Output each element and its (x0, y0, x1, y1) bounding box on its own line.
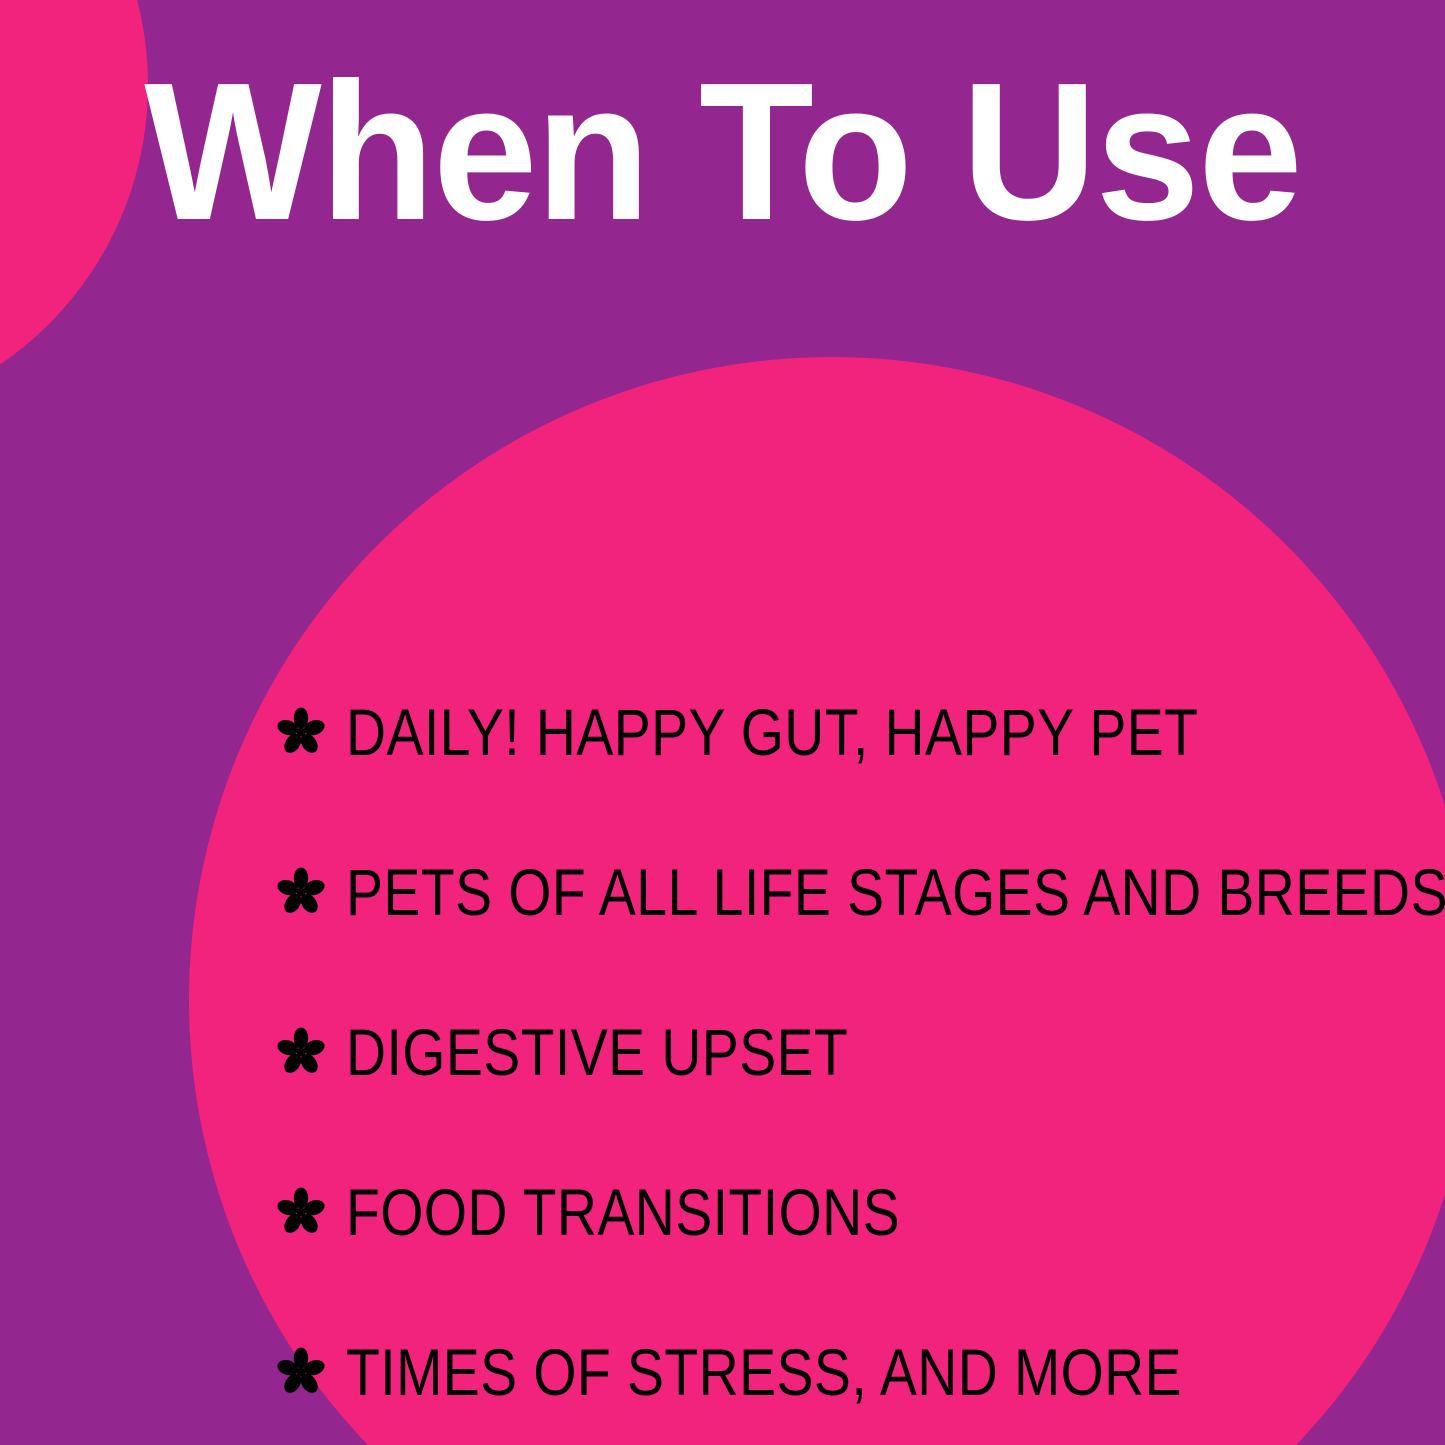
flower-asterisk-icon (276, 1345, 326, 1399)
list-item-label: FOOD TRANSITIONS (346, 1179, 1236, 1245)
list-item: FOOD TRANSITIONS (276, 1132, 1406, 1292)
flower-asterisk-icon (276, 865, 326, 919)
list-item-label: DAILY! HAPPY GUT, HAPPY PET (346, 699, 1236, 765)
flower-asterisk-icon (276, 1025, 326, 1079)
list-item: TIMES OF STRESS, AND MORE (276, 1292, 1406, 1445)
list-item-label: TIMES OF STRESS, AND MORE (346, 1339, 1236, 1405)
list-item-label: PETS OF ALL LIFE STAGES AND BREEDS (346, 859, 1445, 925)
flower-asterisk-icon (276, 1185, 326, 1239)
page-title: When To Use (29, 54, 1416, 250)
list-item-label: DIGESTIVE UPSET (346, 1019, 1236, 1085)
list-item: PETS OF ALL LIFE STAGES AND BREEDS (276, 812, 1406, 972)
flower-asterisk-icon (276, 705, 326, 759)
poster-canvas: When To Use DAILY! HAPPY GUT, HAPPY PET (0, 0, 1445, 1445)
when-to-use-list: DAILY! HAPPY GUT, HAPPY PET PETS OF ALL … (276, 652, 1406, 1445)
list-item: DAILY! HAPPY GUT, HAPPY PET (276, 652, 1406, 812)
list-item: DIGESTIVE UPSET (276, 972, 1406, 1132)
